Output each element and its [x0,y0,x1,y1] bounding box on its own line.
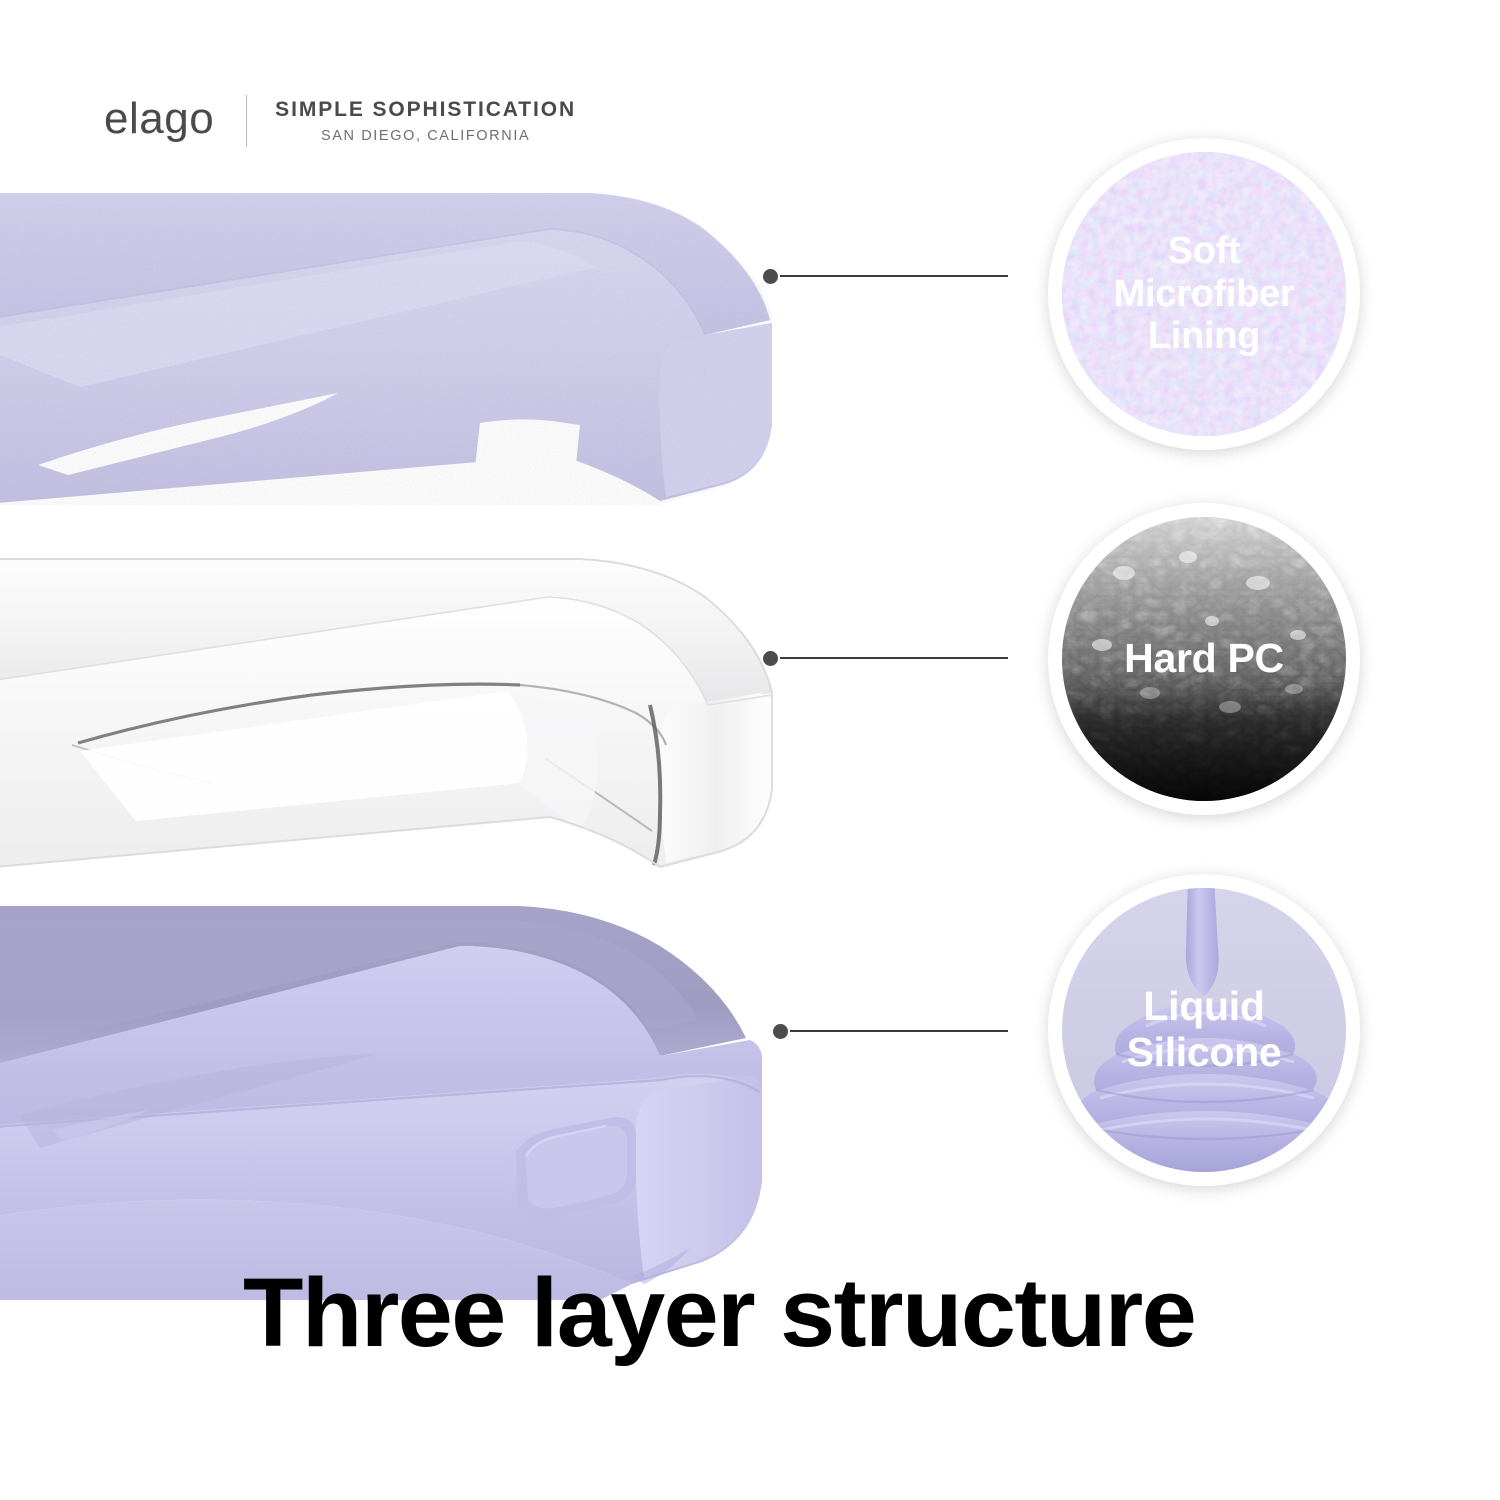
callout-silicone-label: Liquid Silicone [1127,984,1282,1076]
callout-soft-microfiber-lining: Soft Microfiber Lining [1048,138,1360,450]
tagline-main: SIMPLE SOPHISTICATION [275,98,576,122]
leader-line-microfiber [780,275,1008,277]
callout-pc-label: Hard PC [1124,636,1284,682]
brand-tagline: SIMPLE SOPHISTICATION SAN DIEGO, CALIFOR… [275,98,576,143]
leader-line-liquid-silicone [790,1030,1008,1032]
elago-logo: elago [104,97,214,145]
leader-dot-hard-pc [763,651,778,666]
header-divider [246,95,247,147]
callout-microfiber-texture: Soft Microfiber Lining [1062,152,1346,436]
leader-dot-liquid-silicone [773,1024,788,1039]
product-infographic: elago SIMPLE SOPHISTICATION SAN DIEGO, C… [0,0,1500,1500]
tagline-sub: SAN DIEGO, CALIFORNIA [275,128,576,144]
callout-silicone-texture: Liquid Silicone [1062,888,1346,1172]
headline-three-layer-structure: Three layer structure [243,1264,1195,1361]
leader-dot-microfiber [763,269,778,284]
callout-liquid-silicone: Liquid Silicone [1048,874,1360,1186]
leader-line-hard-pc [780,657,1008,659]
layer-liquid-silicone-shell [0,880,860,1300]
layer-hard-pc-shell [0,545,860,885]
layer-microfiber-lining [0,175,860,505]
callout-hard-pc: Hard PC [1048,503,1360,815]
callout-microfiber-label: Soft Microfiber Lining [1114,230,1295,358]
brand-header: elago SIMPLE SOPHISTICATION SAN DIEGO, C… [104,90,576,152]
callout-pc-texture: Hard PC [1062,517,1346,801]
